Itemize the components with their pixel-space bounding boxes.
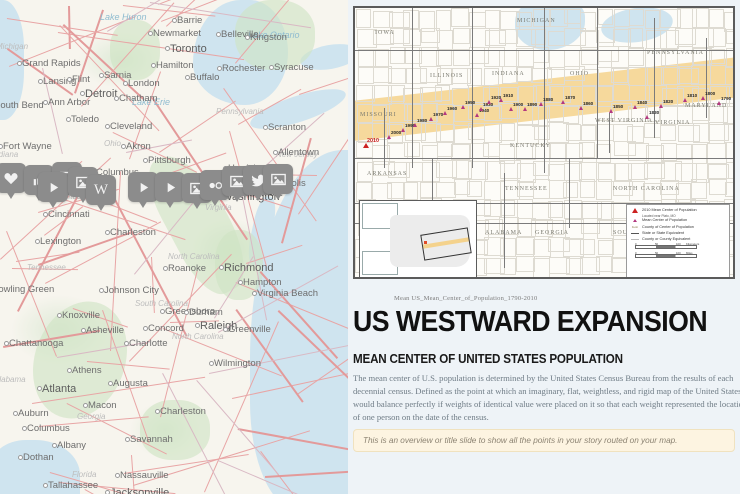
year-label: 2000 <box>391 130 401 135</box>
figure-state-label: MISSOURI <box>360 112 397 118</box>
county-cell <box>691 179 707 199</box>
population-center-marker <box>461 105 465 109</box>
population-center-marker <box>387 135 391 139</box>
population-center-marker <box>475 113 479 117</box>
county-cell <box>692 144 707 164</box>
figure-state-label: TENNESSEE <box>505 186 548 192</box>
population-center-marker <box>401 128 405 132</box>
county-cell <box>660 125 677 141</box>
legend-label: State or State Equivalent <box>642 231 684 236</box>
population-center-marker <box>509 107 513 111</box>
map-pin-wikipedia[interactable]: W <box>86 175 116 205</box>
county-cell <box>580 179 595 197</box>
county-cell <box>499 123 515 140</box>
wikipedia-icon: W <box>94 183 108 198</box>
county-cell <box>692 8 709 27</box>
year-label: 1880 <box>543 97 553 102</box>
population-center-marker <box>523 107 527 111</box>
figure-state-label: OHIO <box>570 71 589 77</box>
scale-mi-tick-2: 100 <box>676 251 681 255</box>
county-cell <box>483 142 500 157</box>
population-center-marker <box>539 102 543 106</box>
county-cell <box>726 29 735 44</box>
map-pin-image[interactable] <box>263 164 293 194</box>
year-label: 1870 <box>565 95 575 100</box>
county-cell <box>629 9 645 26</box>
scale-bars: 0 50 100 Kilometers 0 50 100 Miles <box>631 245 725 258</box>
county-cell <box>451 8 468 27</box>
figure-state-label: VIRGINIA <box>655 120 690 126</box>
population-center-marker <box>499 98 503 102</box>
population-center-marker <box>633 105 637 109</box>
county-cell <box>547 105 564 122</box>
figure-caption: Mean US_Mean_Center_of_Population_1790-2… <box>394 295 537 302</box>
county-cell <box>500 238 516 257</box>
population-center-marker <box>429 117 433 121</box>
county-cell <box>628 28 643 48</box>
legend-label: Mean Center of Population <box>642 218 687 223</box>
scale-mi-tick-1: 50 <box>655 251 658 255</box>
year-label: 1960 <box>447 106 457 111</box>
county-cell <box>387 182 405 199</box>
figure-state-label: GEORGIA <box>535 230 569 236</box>
story-panel: IOWAMISSOURIILLINOISINDIANAOHIOMICHIGANP… <box>348 0 740 494</box>
county-cell <box>453 49 470 66</box>
light-line-icon <box>631 239 639 240</box>
county-cell <box>645 10 660 29</box>
year-label: 1820 <box>663 99 673 104</box>
county-cell <box>691 65 711 85</box>
dark-line-icon <box>631 233 639 234</box>
county-cell <box>566 124 582 141</box>
screen-root: Lake HuronLake ErieLake OntarioMichiganO… <box>0 0 740 494</box>
year-label: 1910 <box>503 93 513 98</box>
county-cell <box>549 143 566 162</box>
map-pin-play[interactable] <box>155 172 185 202</box>
scale-mi-unit: Miles <box>686 251 693 255</box>
population-center-marker <box>443 111 447 115</box>
county-cell <box>710 65 726 85</box>
map-pin-play[interactable] <box>38 172 68 202</box>
county-cell <box>611 67 628 83</box>
year-label: 1840 <box>637 100 647 105</box>
figure-state-label: ALABAMA <box>485 230 522 236</box>
county-cell <box>467 181 482 197</box>
population-center-marker <box>659 104 663 108</box>
state-line <box>569 158 570 228</box>
county-cell <box>358 66 374 84</box>
county-cell <box>725 182 735 198</box>
population-center-marker <box>487 100 491 104</box>
county-cell <box>563 182 578 198</box>
county-cell <box>579 142 595 157</box>
county-cell <box>548 31 565 46</box>
year-label: 1980 <box>417 118 427 123</box>
dots-icon <box>208 181 223 190</box>
county-cell <box>516 48 533 67</box>
red-triangle-icon <box>631 208 639 213</box>
county-cell <box>436 50 452 66</box>
legend-row: Kent County of Center of Population <box>631 225 725 230</box>
scale-km-unit: Kilometers <box>686 242 699 246</box>
population-center-marker <box>701 96 705 100</box>
county-cell <box>726 86 735 104</box>
scale-bar-miles: 0 50 100 Miles <box>635 254 697 258</box>
county-cell <box>598 9 613 25</box>
body-paragraph: The mean center of U.S. population is de… <box>353 372 740 424</box>
county-cell <box>499 29 517 44</box>
county-cell <box>403 182 418 200</box>
county-cell <box>595 124 614 140</box>
county-cell <box>420 182 436 198</box>
page-title: US WESTWARD EXPANSION <box>353 308 707 337</box>
legend-row: 2010 Mean Center of Population <box>631 208 725 213</box>
story-point-markers[interactable]: W <box>0 0 348 494</box>
population-center-marker <box>561 100 565 104</box>
population-center-marker <box>609 109 613 113</box>
scale-bar-kilometers: 0 50 100 Kilometers <box>635 245 697 249</box>
figure-state-label: PENNSYLVANIA <box>647 50 704 56</box>
county-cell <box>388 68 407 84</box>
county-cell <box>596 27 615 43</box>
county-cell <box>500 258 516 275</box>
population-center-marker <box>479 107 483 111</box>
county-cell <box>356 9 371 28</box>
county-cell <box>453 28 470 44</box>
county-cell <box>435 85 450 101</box>
year-label: 1850 <box>613 104 623 109</box>
county-cell <box>406 162 423 182</box>
county-cell <box>726 162 735 179</box>
play-icon <box>136 180 151 195</box>
figure-state-label: IOWA <box>375 30 395 36</box>
county-cell <box>596 179 612 200</box>
figure-state-label: KENTUCKY <box>510 143 551 149</box>
county-cell <box>708 28 727 47</box>
figure-map-image[interactable]: IOWAMISSOURIILLINOISINDIANAOHIOMICHIGANP… <box>353 6 735 279</box>
year-label: 1950 <box>465 100 475 105</box>
year-label: 1830 <box>649 110 659 115</box>
county-cell <box>726 48 735 67</box>
scale-km-tick-0: 0 <box>635 242 637 246</box>
county-cell <box>709 9 724 29</box>
county-cell <box>437 30 453 50</box>
population-center-marker <box>579 106 583 110</box>
figure-state-label: INDIANA <box>492 71 525 77</box>
play-icon <box>46 180 61 195</box>
scale-km-tick-1: 50 <box>655 242 658 246</box>
county-cell <box>709 179 727 195</box>
legend-rows: 2010 Mean Center of PopulationLocated ne… <box>631 208 725 242</box>
year-label: 1970 <box>433 112 443 117</box>
state-line <box>597 8 598 158</box>
year-label: 1800 <box>705 91 715 96</box>
inset-locator-map <box>359 200 477 278</box>
county-cell <box>725 66 735 84</box>
image-icon <box>271 173 286 186</box>
figure-state-label: NORTH CAROLINA <box>613 186 680 192</box>
pink-triangle-icon <box>631 219 639 222</box>
legend-row: State or State Equivalent <box>631 231 725 236</box>
county-cell <box>709 49 725 64</box>
county-cell <box>547 67 564 85</box>
population-center-marker <box>413 123 417 127</box>
legend-label: County or County Equivalent <box>642 237 690 242</box>
county-cell <box>548 164 565 181</box>
population-center-marker <box>683 98 687 102</box>
state-line <box>412 8 413 168</box>
legend-label: 2010 Mean Center of Population <box>642 208 697 213</box>
legend-label: County of Center of Population <box>642 225 694 230</box>
year-label: 2010 <box>367 138 379 144</box>
year-label: 1860 <box>583 101 593 106</box>
year-label: 1790 <box>721 96 731 101</box>
population-center-marker <box>645 115 649 119</box>
state-line <box>472 8 473 168</box>
county-cell <box>373 49 389 67</box>
scale-mi-tick-0: 0 <box>635 251 637 255</box>
county-cell <box>725 142 735 159</box>
county-cell <box>580 239 596 255</box>
county-cell <box>467 68 482 86</box>
figure-state-label: MICHIGAN <box>517 18 556 24</box>
county-cell <box>724 123 735 143</box>
year-label: 1900 <box>513 102 523 107</box>
county-cell <box>468 123 485 140</box>
legend-row: Mean Center of Population <box>631 218 725 223</box>
heart-icon <box>4 172 18 185</box>
scale-km-tick-2: 100 <box>676 242 681 246</box>
year-label: 1890 <box>527 102 537 107</box>
county-label-icon: Kent <box>631 225 639 229</box>
year-label: 1810 <box>687 93 697 98</box>
county-cell <box>564 9 581 24</box>
hint-note: This is an overview or title slide to sh… <box>353 429 735 452</box>
figure-state-label: ILLINOIS <box>430 73 463 79</box>
basemap-viewport[interactable]: Lake HuronLake ErieLake OntarioMichiganO… <box>0 0 348 494</box>
figure-state-label: ARKANSAS <box>367 171 407 177</box>
map-pin-heart[interactable] <box>0 163 26 193</box>
county-cell <box>613 84 629 101</box>
map-legend: 2010 Mean Center of PopulationLocated ne… <box>626 204 730 278</box>
map-pin-play[interactable] <box>128 172 158 202</box>
population-center-marker <box>717 101 721 105</box>
county-cell <box>614 9 630 27</box>
play-icon <box>163 180 178 195</box>
page-subtitle: MEAN CENTER OF UNITED STATES POPULATION <box>353 352 711 366</box>
